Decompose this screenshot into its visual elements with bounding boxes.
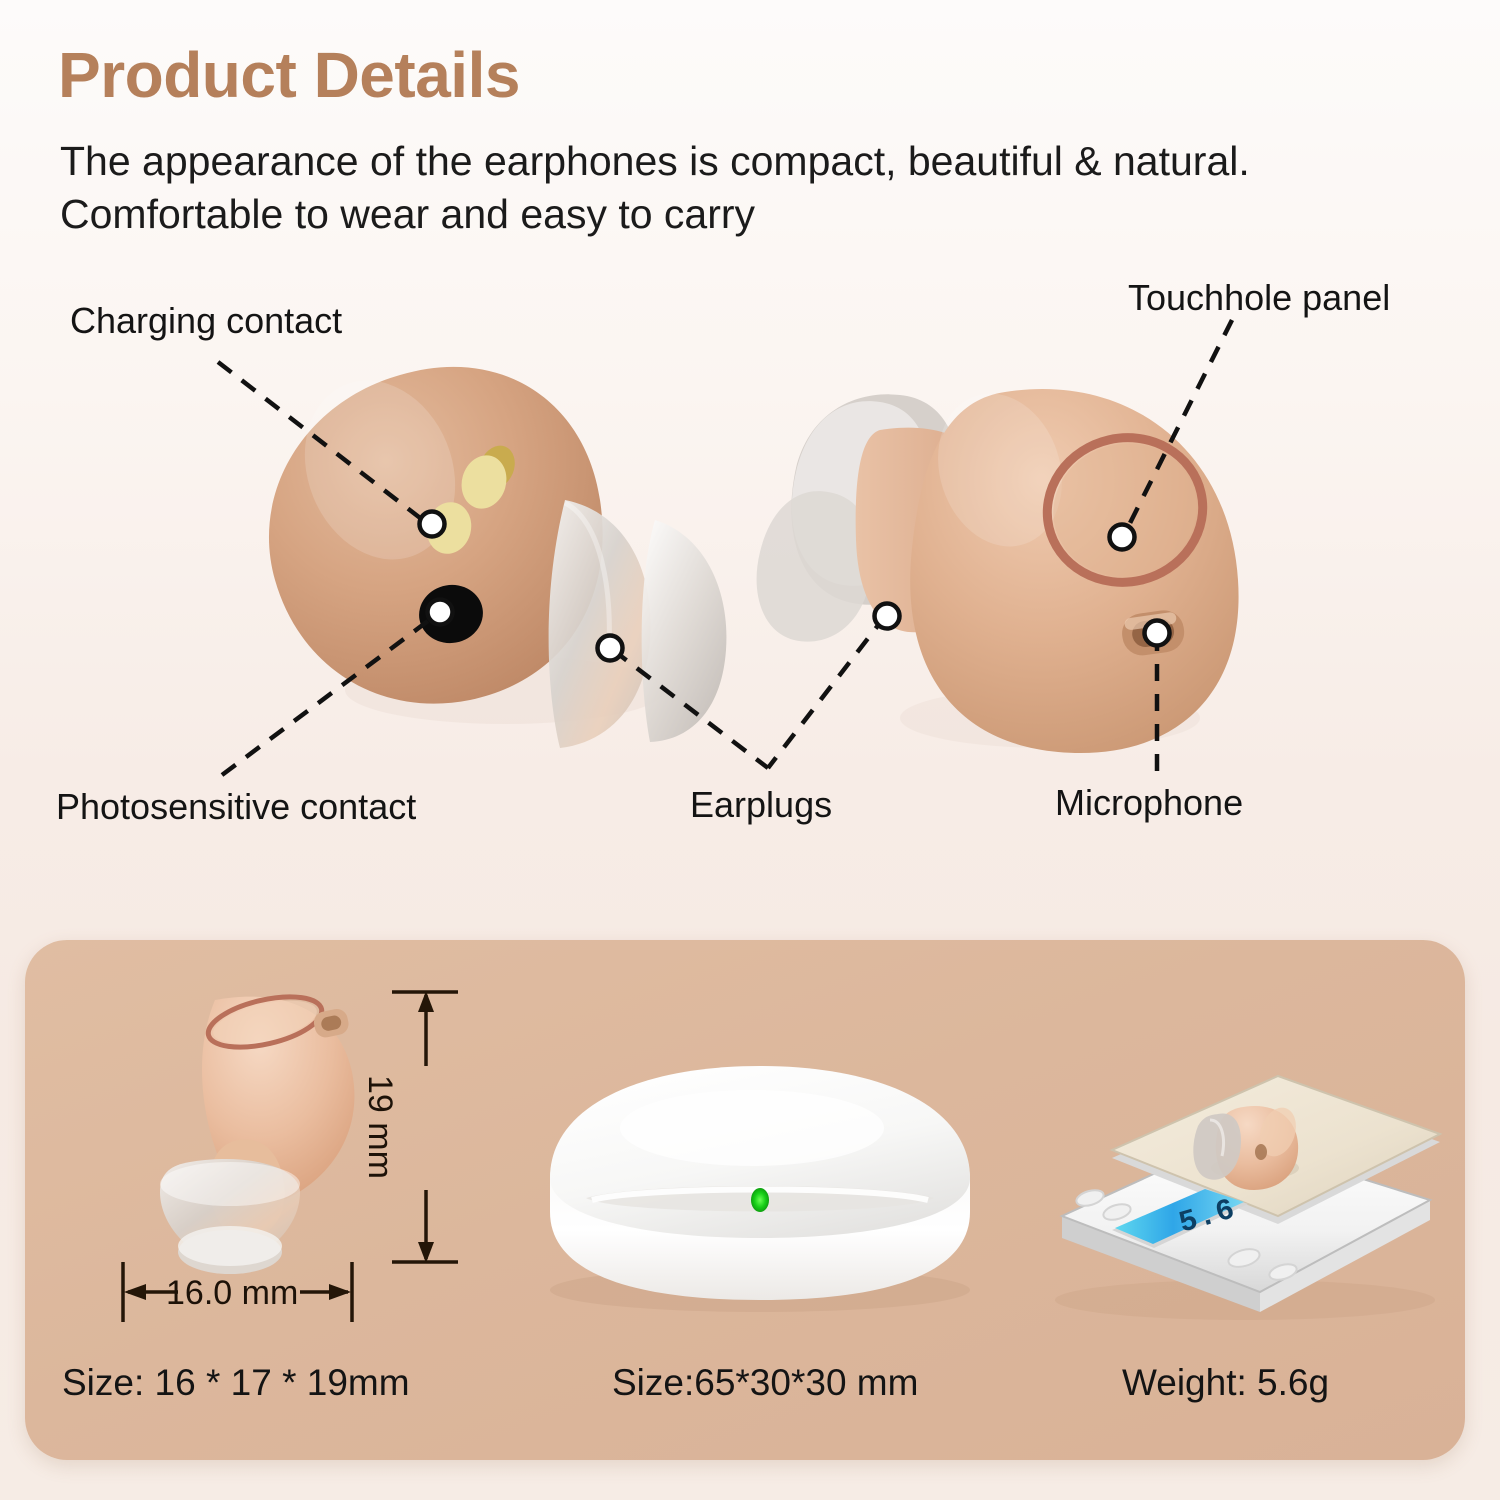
infographic-root: Product Details The appearance of the ea… [0, 0, 1500, 1500]
digital-scale-illustration: 5.6 [1055, 1076, 1440, 1320]
dimension-width-label: 16.0 mm [166, 1274, 298, 1313]
charging-case-led [751, 1188, 769, 1212]
dimension-height-label: 19 mm [360, 1075, 399, 1179]
spec-caption-weight: Weight: 5.6g [1122, 1362, 1329, 1404]
spec-caption-earbud-size: Size: 16 * 17 * 19mm [62, 1362, 410, 1404]
spec-caption-case-size: Size:65*30*30 mm [612, 1362, 918, 1404]
earbud-on-scale [1193, 1103, 1302, 1190]
charging-case-illustration [550, 1066, 970, 1312]
spec-earbud-illustration [160, 988, 354, 1274]
